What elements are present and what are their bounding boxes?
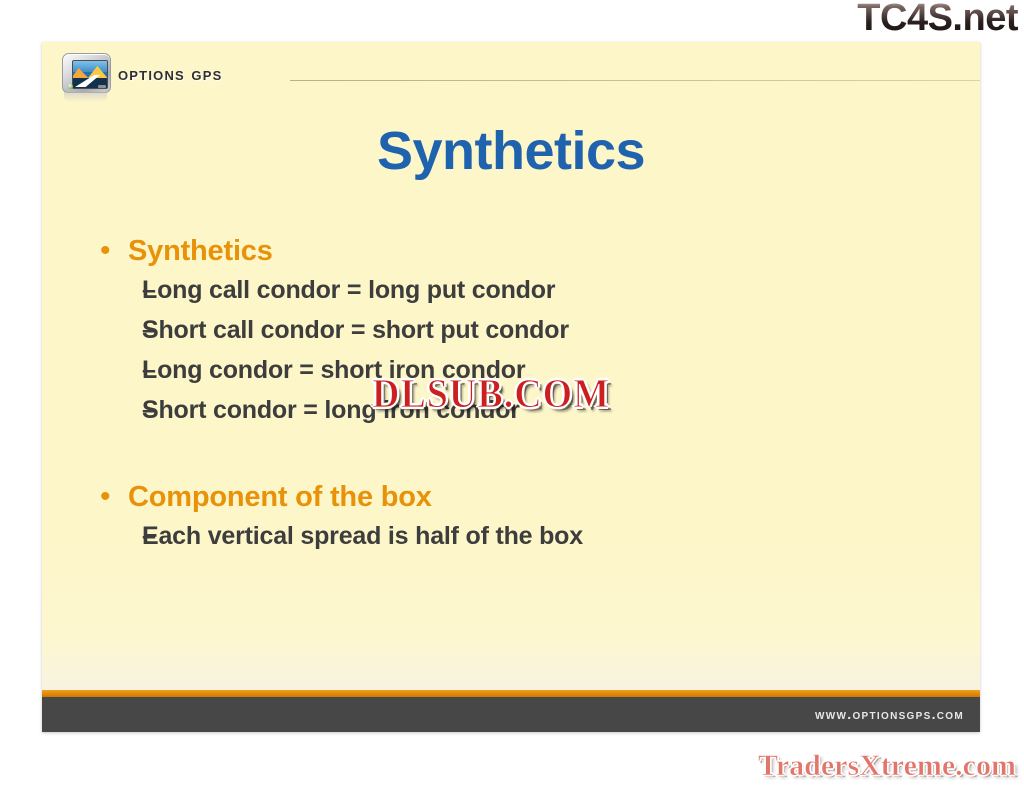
gps-device-icon xyxy=(60,51,112,97)
slide-footer: www.OptionsGPS.com xyxy=(42,690,980,732)
sub-bullet-text: Each vertical spread is half of the box xyxy=(142,518,583,554)
sub-bullet-item: – Each vertical spread is half of the bo… xyxy=(94,518,940,554)
sub-bullet-item: – Short call condor = short put condor xyxy=(94,312,940,348)
footer-website-url: www.OptionsGPS.com xyxy=(815,706,964,722)
sub-bullet-list-component-of-the-box: – Each vertical spread is half of the bo… xyxy=(94,518,940,554)
sub-bullet-text: Long call condor = long put condor xyxy=(142,272,555,308)
dash-marker: – xyxy=(94,312,142,348)
bullet-heading: Component of the box xyxy=(128,478,432,516)
sub-bullet-text: Long condor = short iron condor xyxy=(142,352,525,388)
sub-bullet-text: Short condor = long iron condor xyxy=(142,392,520,428)
dash-marker: – xyxy=(94,392,142,428)
slide-header: Options GPS xyxy=(42,42,980,104)
footer-bar: www.OptionsGPS.com xyxy=(42,697,980,732)
gps-device-power-led xyxy=(68,84,73,89)
footer-accent-strip xyxy=(42,690,980,697)
sub-bullet-item: – Long call condor = long put condor xyxy=(94,272,940,308)
bullet-item-synthetics: • Synthetics xyxy=(94,232,940,270)
sub-bullet-text: Short call condor = short put condor xyxy=(142,312,569,348)
sub-bullet-item: – Short condor = long iron condor xyxy=(94,392,940,428)
slide-body-content: • Synthetics – Long call condor = long p… xyxy=(94,232,940,558)
presentation-slide: Options GPS Synthetics • Synthetics – Lo… xyxy=(42,42,980,732)
bullet-heading: Synthetics xyxy=(128,232,273,270)
tc4s-brand-watermark: TC4S.net xyxy=(857,0,1018,38)
bullet-marker: • xyxy=(94,232,128,270)
tradersxtreme-brand-watermark: TradersXtreme.com xyxy=(758,749,1016,783)
section-spacer xyxy=(94,432,940,478)
sub-bullet-list-synthetics: – Long call condor = long put condor – S… xyxy=(94,272,940,428)
dash-marker: – xyxy=(94,272,142,308)
brand-logo-text: Options GPS xyxy=(118,64,222,86)
gps-device-reflection xyxy=(64,92,107,102)
dash-marker: – xyxy=(94,352,142,388)
bullet-item-component-of-the-box: • Component of the box xyxy=(94,478,940,516)
slide-title: Synthetics xyxy=(42,120,980,182)
gps-device-button xyxy=(98,85,106,88)
dash-marker: – xyxy=(94,518,142,554)
header-divider-rule xyxy=(290,80,980,81)
bullet-marker: • xyxy=(94,478,128,516)
gps-device-body xyxy=(62,53,111,93)
sub-bullet-item: – Long condor = short iron condor xyxy=(94,352,940,388)
